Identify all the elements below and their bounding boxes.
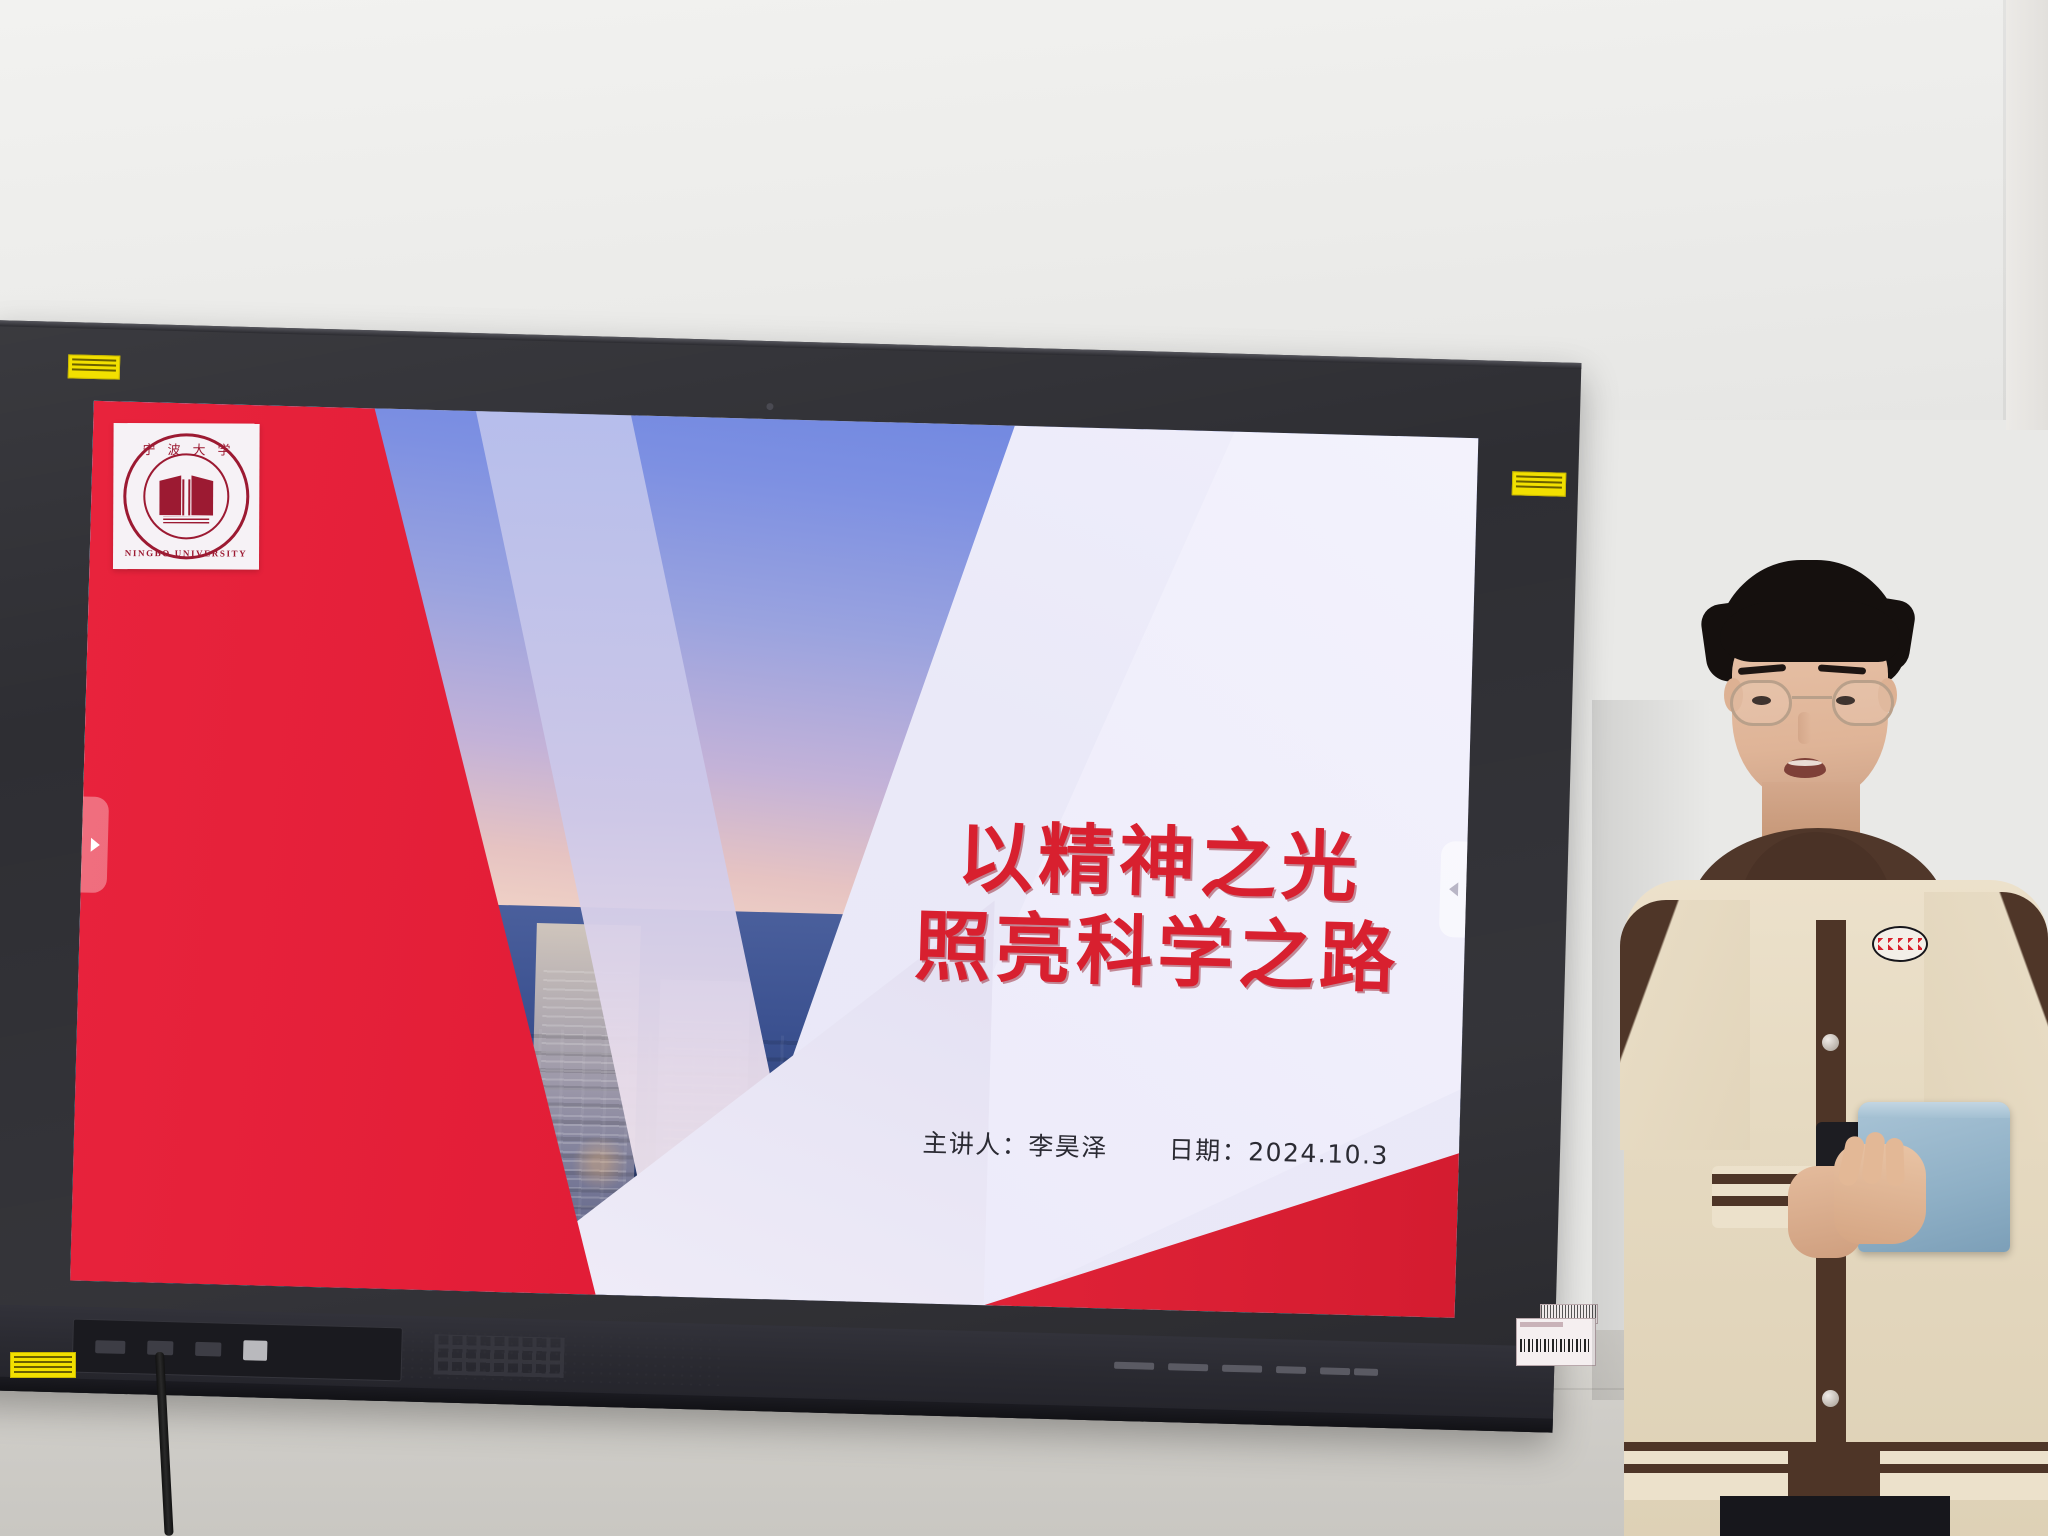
presentation-slide[interactable]: 宁波大学 NINGBO UNIVERSITY 以精神之光 照亮科学之路 主讲人：…: [70, 401, 1478, 1318]
glasses-bridge: [1792, 696, 1832, 699]
interactive-flat-panel-display[interactable]: 宁波大学 NINGBO UNIVERSITY 以精神之光 照亮科学之路 主讲人：…: [0, 320, 1581, 1433]
hair-fringe: [1720, 600, 1900, 662]
chevron-left-icon[interactable]: [1439, 841, 1468, 938]
classroom-scene: 宁波大学 NINGBO UNIVERSITY 以精神之光 照亮科学之路 主讲人：…: [0, 0, 2048, 1536]
camera-dot-icon: [766, 403, 773, 410]
wall-corner: [2003, 0, 2006, 420]
pants: [1720, 1496, 1950, 1536]
bezel-button[interactable]: [1114, 1362, 1154, 1370]
lan-port[interactable]: [243, 1340, 268, 1361]
slide-title: 以精神之光 照亮科学之路: [913, 811, 1404, 1003]
jacket-snap: [1822, 1390, 1839, 1407]
power-button-glyph[interactable]: [1354, 1368, 1378, 1376]
jacket-snap: [1822, 1034, 1839, 1051]
logo-english-name: NINGBO UNIVERSITY: [113, 548, 259, 559]
hdmi-port[interactable]: [95, 1340, 125, 1354]
bezel-button-strip[interactable]: [1114, 1362, 1350, 1375]
presenter: [1620, 560, 2048, 1536]
asset-label-top-left: [68, 354, 121, 379]
glasses-lens-left: [1730, 680, 1792, 726]
warning-label-bottom-left: [10, 1352, 76, 1378]
tablet-top-edge: [1858, 1102, 2010, 1118]
bezel-button[interactable]: [1276, 1366, 1306, 1374]
date-label: 日期：2024.10.3: [1168, 1135, 1389, 1170]
logo-chinese-name: 宁波大学: [113, 439, 259, 459]
wall-right-panel: [2006, 0, 2048, 430]
slide-title-line-1: 以精神之光: [916, 811, 1404, 914]
usb-port[interactable]: [195, 1342, 221, 1357]
bezel-button[interactable]: [1168, 1363, 1208, 1371]
mouth: [1784, 758, 1826, 778]
slide-title-line-2: 照亮科学之路: [913, 901, 1401, 1004]
ports-panel[interactable]: [72, 1319, 403, 1382]
bezel-button[interactable]: [1222, 1365, 1262, 1373]
asset-label-top-right: [1512, 471, 1567, 496]
glasses-icon: [1724, 680, 1900, 726]
university-logo: 宁波大学 NINGBO UNIVERSITY: [113, 423, 260, 570]
power-button[interactable]: [1354, 1368, 1378, 1376]
barcode-inventory-label: [1516, 1318, 1596, 1366]
zigzag-smile-patch-icon: [1872, 926, 1928, 962]
presenter-label: 主讲人：李昊泽: [922, 1128, 1108, 1162]
chevron-right-icon[interactable]: [81, 796, 110, 893]
nose: [1798, 712, 1811, 744]
bezel-button[interactable]: [1320, 1367, 1350, 1375]
open-book-monument-icon: [159, 471, 213, 523]
glasses-lens-right: [1832, 680, 1894, 726]
finger: [1885, 1138, 1905, 1187]
vent-grille: [434, 1334, 565, 1378]
jacket-shoulder-left: [1620, 900, 1750, 1150]
